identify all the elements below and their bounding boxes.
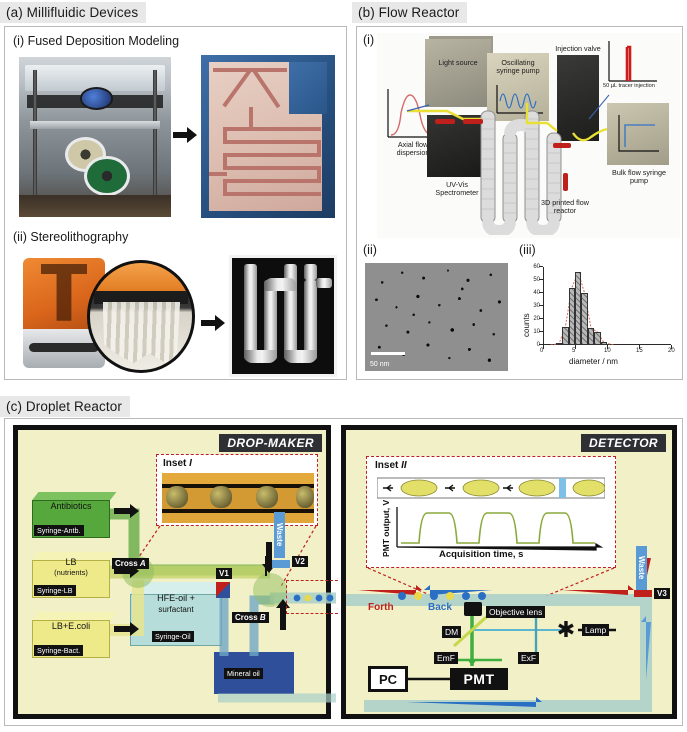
histogram-x-tick-label: 5	[572, 348, 575, 354]
cross-a-label: Cross	[115, 559, 138, 568]
red-marker-2	[463, 119, 483, 124]
reactor-bend-3	[284, 350, 317, 363]
sla-resin-parts	[103, 302, 181, 364]
histogram-y-tick-label: 0	[528, 342, 540, 348]
tem-scale-label: 50 nm	[370, 361, 389, 368]
cross-b-tag: Cross B	[232, 612, 269, 623]
histogram-x-tick-label: 10	[604, 348, 611, 354]
chip-serpentine-5	[223, 179, 321, 183]
drop-maker-subpanel: DROP-MAKER Inset I	[13, 425, 331, 719]
histogram-plot-area: 051015200102030405060	[543, 267, 671, 345]
reactor-side-port	[316, 278, 332, 288]
printer-table	[19, 195, 171, 217]
histogram-y-tick-label: 60	[528, 264, 540, 270]
histogram-y-tick-label: 50	[528, 277, 540, 283]
sla-print-closeup-inset	[87, 260, 195, 372]
histogram-x-tick-label: 20	[668, 348, 675, 354]
printer-frame-right	[153, 70, 157, 201]
chip-outlet	[209, 172, 227, 176]
figure-root: (a) Millifluidic Devices (i) Fused Depos…	[0, 0, 687, 732]
cross-a-tag: Cross A	[112, 558, 149, 569]
red-marker-4	[563, 173, 568, 191]
reactor-inlet-port	[304, 264, 317, 280]
panel-b-box: (i) Light source Oscillating syringe pum…	[356, 26, 683, 380]
histogram-x-tick-label: 0	[540, 348, 543, 354]
cross-b-letter: B	[260, 613, 266, 622]
histogram-x-tick-label: 15	[636, 348, 643, 354]
flow-reactor-schematic: Light source Oscillating syringe pump In…	[377, 33, 680, 238]
red-marker-1	[435, 119, 455, 124]
arrow-icon-a-i	[173, 127, 197, 143]
inset-i-callout-region	[286, 580, 338, 614]
histogram-y-tick-label: 30	[528, 303, 540, 309]
filament-spool-green	[84, 156, 130, 196]
histogram-y-tick-label: 10	[528, 329, 540, 335]
reactor-bend-1	[244, 350, 277, 363]
reactor-tube-4	[304, 280, 317, 360]
valve-v3-label[interactable]: V3	[654, 588, 670, 599]
panel-a-sub-i-label: (i) Fused Deposition Modeling	[13, 34, 179, 48]
printer-frame-left	[33, 70, 37, 201]
waste-left-label: Waste	[274, 512, 285, 558]
fdm-printer-photo	[19, 57, 171, 217]
arrow-icon-a-ii	[201, 315, 225, 331]
histogram-y-tick-label: 20	[528, 316, 540, 322]
tem-micrograph: 50 nm	[365, 263, 508, 371]
sla-serpentine-reactor-photo	[229, 255, 337, 377]
panel-c-box: DROP-MAKER Inset I	[4, 418, 683, 726]
valve-v2-marker	[272, 560, 290, 568]
panel-b-header: (b) Flow Reactor	[352, 2, 467, 23]
reactor-bend-2	[264, 278, 297, 291]
chip-serpentine-3	[223, 153, 321, 157]
cross-a-letter: A	[140, 559, 146, 568]
chip-serpentine-4	[223, 166, 321, 170]
chip-notch	[289, 62, 327, 114]
chip-bend-left-a	[223, 127, 227, 141]
histogram-xlabel: diameter / nm	[569, 357, 618, 366]
panel-a-header: (a) Millifluidic Devices	[0, 2, 146, 23]
valve-v1-marker	[216, 582, 230, 598]
reactor-tube-1	[244, 264, 257, 360]
histogram-y-tick-label: 40	[528, 290, 540, 296]
waste-right-label: Waste	[636, 546, 647, 590]
panel-c-header: (c) Droplet Reactor	[0, 396, 130, 417]
detector-subpanel: DETECTOR Inset II	[341, 425, 677, 719]
size-distribution-histogram: counts 051015200102030405060 diameter / …	[517, 261, 679, 373]
red-marker-3	[553, 143, 571, 148]
panel-a-box: (i) Fused Deposition Modeling	[4, 26, 347, 380]
panel-a-sub-ii-label: (ii) Stereolithography	[13, 230, 128, 244]
drop-maker-flow-paths	[18, 430, 336, 724]
chip-bend-right-b	[317, 166, 321, 180]
panel-b-sub-ii-label: (ii)	[363, 243, 377, 257]
chip-serpentine-6	[223, 192, 321, 196]
chip-serpentine-2	[223, 140, 321, 144]
chip-bend-left-b	[223, 153, 227, 167]
printer-bed	[30, 121, 161, 129]
panel-b-sub-iii-label: (iii)	[519, 243, 536, 257]
chip-bend-right-a	[317, 140, 321, 154]
sla-printer-photo	[19, 253, 199, 375]
printer-display	[80, 87, 113, 109]
valve-v2-label[interactable]: V2	[292, 556, 308, 567]
chip-inlet-top	[213, 68, 287, 72]
chip-serpentine-1	[223, 127, 321, 131]
chip-bend-left-c	[223, 179, 227, 193]
tem-scale-bar	[371, 352, 405, 355]
reactor-tube-2	[264, 280, 277, 360]
cross-b-label: Cross	[235, 613, 258, 622]
chip-y-stem	[249, 107, 253, 127]
valve-v3-marker	[634, 590, 652, 597]
tubing-lines	[377, 33, 680, 238]
printed-chip-photo	[201, 55, 335, 218]
pc-pmt-cable	[346, 430, 682, 724]
valve-v1-label[interactable]: V1	[216, 568, 232, 579]
panel-b-sub-i-label: (i)	[363, 33, 374, 47]
